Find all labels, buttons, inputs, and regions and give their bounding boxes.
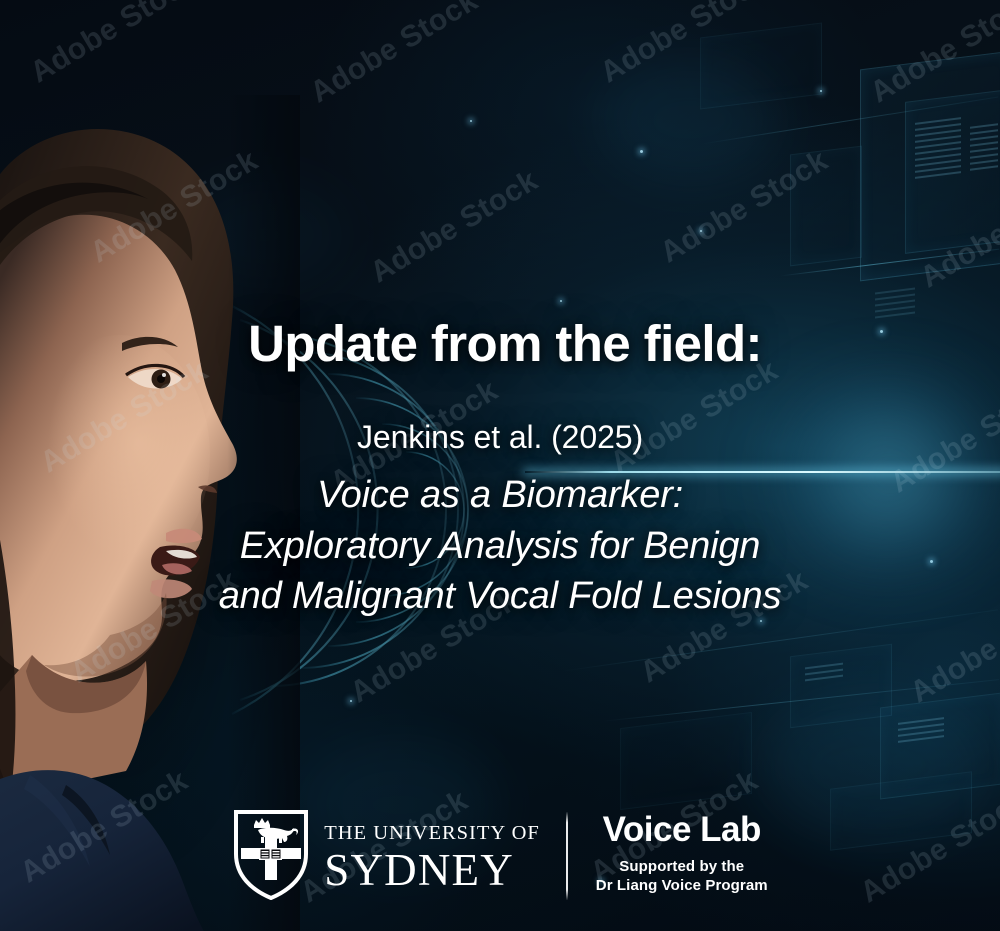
study-title-line-1: Voice as a Biomarker:: [0, 470, 1000, 521]
university-of-sydney-logo: THE UNIVERSITY OF SYDNEY: [232, 806, 540, 902]
background-particle: [820, 90, 822, 92]
background-particle: [470, 120, 472, 122]
hud-panel: [790, 146, 862, 267]
hud-data-rows: [915, 117, 961, 179]
sydney-crest-shield-icon: [232, 808, 310, 900]
slide-headline: Update from the field:: [0, 316, 1000, 371]
logo-lockup: THE UNIVERSITY OF SYDNEY Voice Lab Suppo…: [0, 806, 1000, 906]
study-title-line-2: Exploratory Analysis for Benign: [0, 521, 1000, 572]
background-particle: [350, 700, 352, 702]
university-wordmark: THE UNIVERSITY OF SYDNEY: [324, 815, 540, 893]
voice-lab-logo: Voice Lab Supported by the Dr Liang Voic…: [596, 806, 768, 896]
logo-divider: [566, 812, 568, 900]
background-particle: [700, 230, 702, 232]
background-particle: [560, 300, 562, 302]
voice-lab-support-line-1: Supported by the: [596, 858, 768, 877]
citation-line: Jenkins et al. (2025): [0, 419, 1000, 456]
hud-data-rows: [875, 288, 915, 319]
hud-panel: [620, 712, 752, 810]
voice-lab-support-line-2: Dr Liang Voice Program: [596, 877, 768, 896]
study-title-line-3: and Malignant Vocal Fold Lesions: [0, 571, 1000, 622]
voice-lab-support-text: Supported by the Dr Liang Voice Program: [596, 858, 768, 896]
hud-panel: [700, 23, 822, 110]
voice-lab-name: Voice Lab: [603, 812, 761, 849]
presentation-slide: Adobe StockAdobe StockAdobe StockAdobe S…: [0, 0, 1000, 931]
study-title: Voice as a Biomarker: Exploratory Analys…: [0, 470, 1000, 622]
hud-panel: [790, 644, 892, 729]
university-wordmark-line-2: SYDNEY: [324, 848, 514, 893]
hud-data-rows: [970, 123, 998, 170]
background-particle: [640, 150, 643, 153]
university-wordmark-line-1: THE UNIVERSITY OF: [324, 823, 540, 844]
